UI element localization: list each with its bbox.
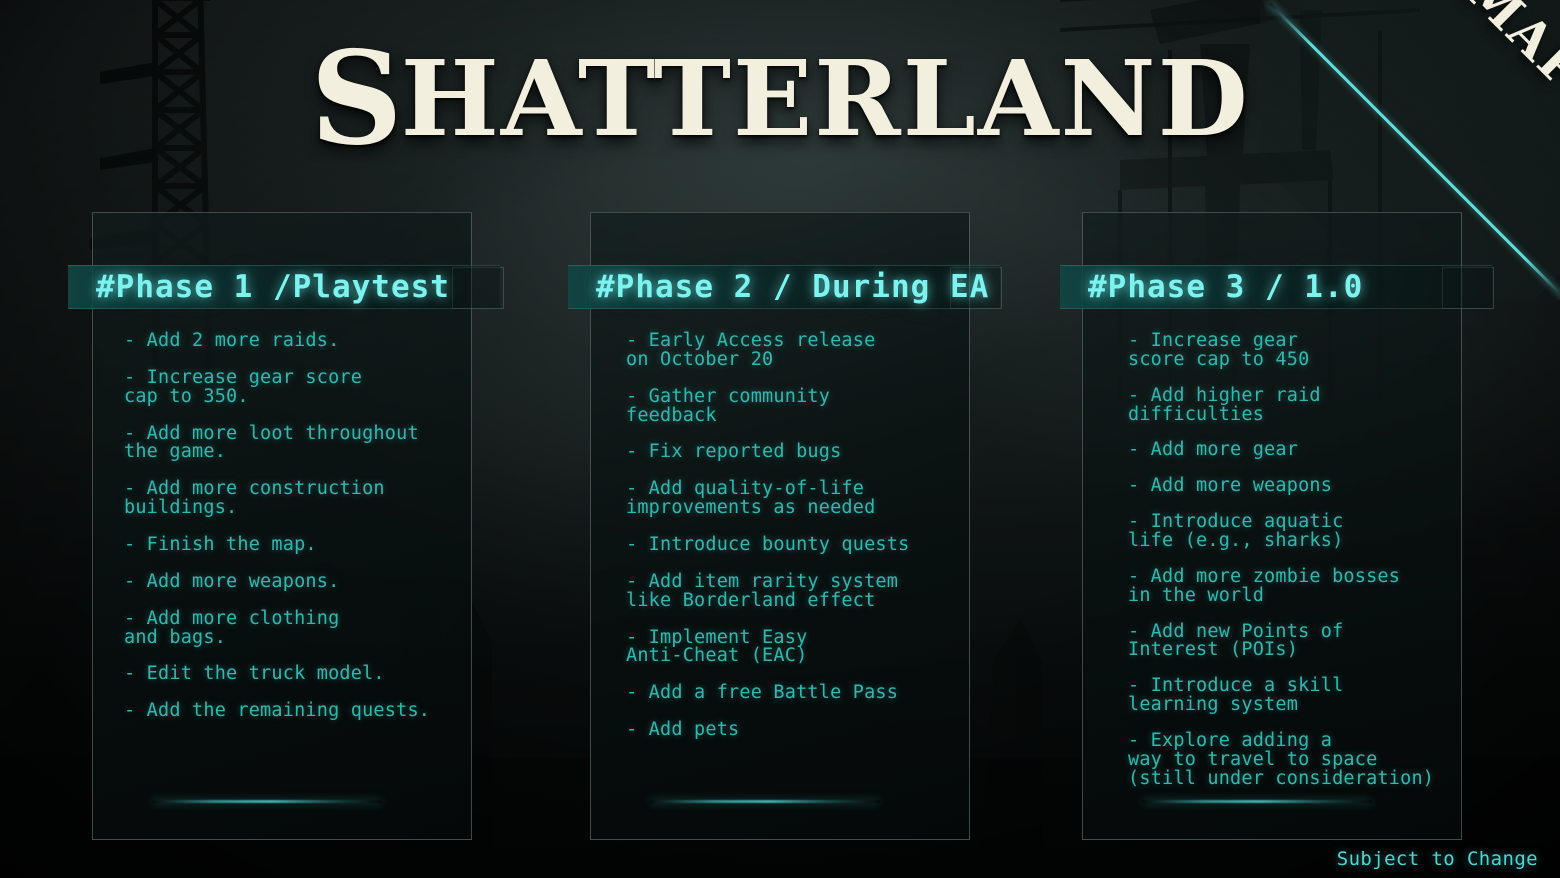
list-item: - Add more zombie bosses in the world — [1128, 568, 1468, 606]
card-accent-line-2 — [650, 800, 880, 803]
phase-header-3: #Phase 3 / 1.0 — [1060, 265, 1492, 309]
list-item: - Introduce aquatic life (e.g., sharks) — [1128, 513, 1468, 551]
list-item: - Add quality-of-life improvements as ne… — [626, 480, 956, 518]
phase-cards: #Phase 1 /Playtest #Phase 2 / During EA … — [0, 0, 1560, 878]
list-item: - Introduce bounty quests — [626, 536, 956, 555]
list-item: - Add higher raid difficulties — [1128, 387, 1468, 425]
list-item: - Add pets — [626, 721, 956, 740]
phase-list-3: - Increase gear score cap to 450- Add hi… — [1128, 332, 1468, 806]
list-item: - Add item rarity system like Borderland… — [626, 573, 956, 611]
list-item: - Add more construction buildings. — [124, 480, 454, 518]
list-item: - Add the remaining quests. — [124, 702, 454, 721]
list-item: - Explore adding a way to travel to spac… — [1128, 732, 1468, 789]
phase-list-1: - Add 2 more raids.- Increase gear score… — [124, 332, 454, 739]
list-item: - Gather community feedback — [626, 388, 956, 426]
list-item: - Add more weapons — [1128, 477, 1468, 496]
list-item: - Edit the truck model. — [124, 665, 454, 684]
list-item: - Add a free Battle Pass — [626, 684, 956, 703]
list-item: - Increase gear score cap to 350. — [124, 369, 454, 407]
list-item: - Add more loot throughout the game. — [124, 425, 454, 463]
phase-list-2: - Early Access release on October 20- Ga… — [626, 332, 956, 758]
subject-to-change-note: Subject to Change — [1337, 848, 1538, 870]
list-item: - Add more clothing and bags. — [124, 610, 454, 648]
list-item: - Implement Easy Anti-Cheat (EAC) — [626, 629, 956, 667]
list-item: - Add 2 more raids. — [124, 332, 454, 351]
phase-title-3: #Phase 3 / 1.0 — [1088, 269, 1363, 305]
card-accent-line-1 — [152, 800, 382, 803]
phase-title-2: #Phase 2 / During EA — [596, 269, 989, 305]
list-item: - Introduce a skill learning system — [1128, 677, 1468, 715]
card-accent-line-3 — [1142, 800, 1372, 803]
list-item: - Increase gear score cap to 450 — [1128, 332, 1468, 370]
list-item: - Finish the map. — [124, 536, 454, 555]
list-item: - Fix reported bugs — [626, 443, 956, 462]
list-item: - Add more weapons. — [124, 573, 454, 592]
list-item: - Add new Points of Interest (POIs) — [1128, 623, 1468, 661]
phase-header-2: #Phase 2 / During EA — [568, 265, 1000, 309]
phase-header-1: #Phase 1 /Playtest — [68, 265, 500, 309]
list-item: - Early Access release on October 20 — [626, 332, 956, 370]
phase-title-1: #Phase 1 /Playtest — [96, 269, 450, 305]
list-item: - Add more gear — [1128, 441, 1468, 460]
